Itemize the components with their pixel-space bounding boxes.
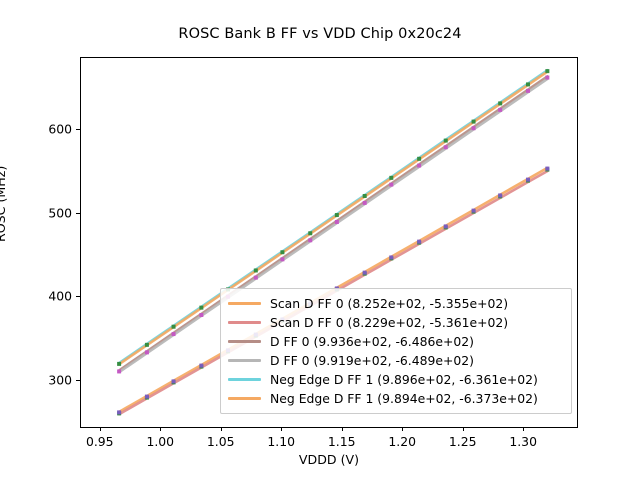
data-point-marker (363, 194, 367, 198)
data-point-marker (117, 362, 121, 366)
data-point-marker (172, 325, 176, 329)
legend-color-swatch (228, 340, 261, 343)
x-axis-label: VDDD (V) (80, 452, 578, 467)
data-point-marker (145, 343, 149, 347)
y-tick-label: 500 (10, 205, 72, 220)
data-point-marker (498, 193, 502, 197)
chart-title: ROSC Bank B FF vs VDD Chip 0x20c24 (0, 26, 640, 42)
data-point-marker (389, 176, 393, 180)
legend-item[interactable]: Scan D FF 0 (8.229e+02, -5.361e+02) (228, 313, 564, 332)
data-point-marker (417, 164, 421, 168)
legend-label: Neg Edge D FF 1 (9.894e+02, -6.373e+02) (270, 391, 538, 406)
x-tick-label: 1.00 (130, 434, 190, 449)
legend-color-swatch (228, 359, 261, 362)
data-point-marker (417, 240, 421, 244)
data-point-marker (199, 364, 203, 368)
data-point-marker (254, 276, 258, 280)
data-point-marker (254, 268, 258, 272)
data-point-marker (280, 257, 284, 261)
legend-color-swatch (228, 302, 261, 305)
chart-legend[interactable]: Scan D FF 0 (8.252e+02, -5.355e+02)Scan … (220, 288, 572, 414)
data-point-marker (526, 89, 530, 93)
data-point-marker (172, 379, 176, 383)
data-point-marker (389, 183, 393, 187)
data-point-marker (199, 306, 203, 310)
data-point-marker (363, 201, 367, 205)
y-axis-label: ROSC (MHz) (0, 166, 8, 242)
x-tick-label: 1.20 (372, 434, 432, 449)
legend-label: Scan D FF 0 (8.229e+02, -5.361e+02) (270, 315, 508, 330)
data-point-marker (545, 76, 549, 80)
legend-color-swatch (228, 397, 261, 400)
legend-item[interactable]: D FF 0 (9.919e+02, -6.489e+02) (228, 351, 564, 370)
x-tick-label: 1.25 (433, 434, 493, 449)
data-point-marker (444, 139, 448, 143)
data-point-marker (444, 145, 448, 149)
x-tick-label: 1.10 (251, 434, 311, 449)
data-point-marker (472, 209, 476, 213)
data-point-marker (526, 178, 530, 182)
data-point-marker (117, 369, 121, 373)
data-point-marker (498, 108, 502, 112)
data-point-marker (472, 126, 476, 130)
matplotlib-figure: ROSC Bank B FF vs VDD Chip 0x20c24 ROSC … (0, 0, 640, 480)
data-point-marker (417, 157, 421, 161)
legend-color-swatch (228, 321, 261, 324)
legend-label: Scan D FF 0 (8.252e+02, -5.355e+02) (270, 296, 508, 311)
data-point-marker (308, 231, 312, 235)
data-point-marker (444, 224, 448, 228)
data-point-marker (472, 120, 476, 124)
legend-label: Neg Edge D FF 1 (9.896e+02, -6.361e+02) (270, 372, 538, 387)
legend-item[interactable]: Neg Edge D FF 1 (9.894e+02, -6.373e+02) (228, 389, 564, 408)
x-tick-label: 1.30 (493, 434, 553, 449)
x-tick-label: 1.15 (312, 434, 372, 449)
data-point-marker (308, 238, 312, 242)
data-point-marker (526, 82, 530, 86)
data-point-marker (389, 255, 393, 259)
legend-label: D FF 0 (9.936e+02, -6.486e+02) (270, 334, 474, 349)
data-point-marker (172, 332, 176, 336)
data-point-marker (545, 69, 549, 73)
data-point-marker (335, 220, 339, 224)
data-point-marker (545, 167, 549, 171)
y-tick-label: 400 (10, 289, 72, 304)
y-tick-label: 600 (10, 122, 72, 137)
x-tick-label: 1.05 (191, 434, 251, 449)
legend-item[interactable]: Neg Edge D FF 1 (9.896e+02, -6.361e+02) (228, 370, 564, 389)
y-tick-label: 300 (10, 372, 72, 387)
legend-label: D FF 0 (9.919e+02, -6.489e+02) (270, 353, 474, 368)
data-point-marker (199, 313, 203, 317)
legend-item[interactable]: Scan D FF 0 (8.252e+02, -5.355e+02) (228, 294, 564, 313)
data-point-marker (145, 395, 149, 399)
data-point-marker (145, 350, 149, 354)
x-tick-label: 0.95 (70, 434, 130, 449)
data-point-marker (117, 410, 121, 414)
legend-color-swatch (228, 378, 261, 381)
data-point-marker (363, 271, 367, 275)
data-point-marker (498, 101, 502, 105)
data-point-marker (335, 213, 339, 217)
data-point-marker (280, 250, 284, 254)
legend-item[interactable]: D FF 0 (9.936e+02, -6.486e+02) (228, 332, 564, 351)
